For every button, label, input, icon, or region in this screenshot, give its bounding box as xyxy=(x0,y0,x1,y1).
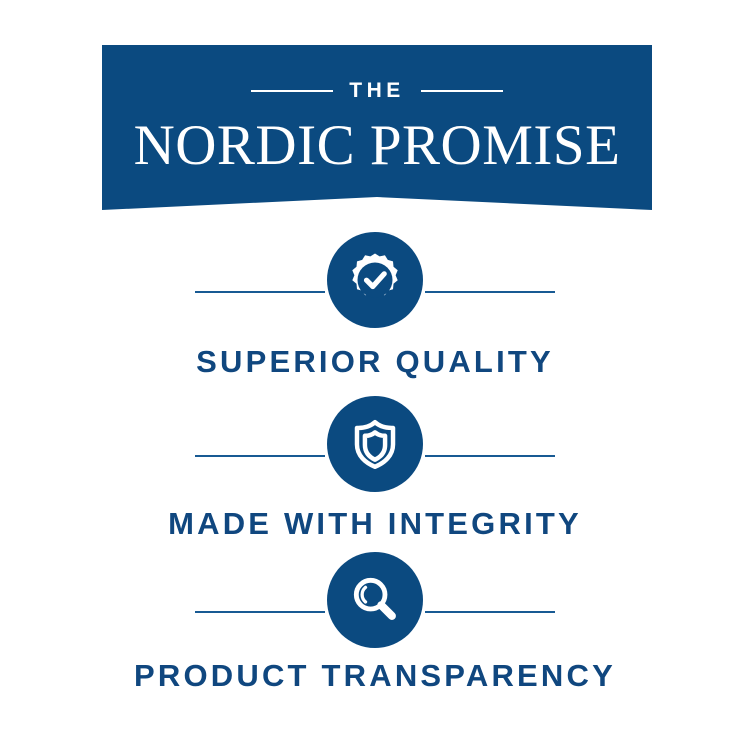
divider-left xyxy=(195,291,325,293)
badge-check-icon xyxy=(327,232,423,328)
promise-item-superior-quality: SUPERIOR QUALITY xyxy=(0,232,750,377)
promise-item-made-with-integrity: MADE WITH INTEGRITY xyxy=(0,396,750,539)
banner-eyebrow-row: THE xyxy=(99,80,655,101)
divider-left xyxy=(195,611,325,613)
banner-content: THE NORDIC PROMISE xyxy=(99,42,655,214)
divider-right xyxy=(425,611,555,613)
eyebrow-rule-right xyxy=(421,90,503,92)
promise-label: SUPERIOR QUALITY xyxy=(0,346,750,377)
banner: THE NORDIC PROMISE xyxy=(99,42,655,214)
promise-icon-row xyxy=(0,552,750,648)
shield-icon xyxy=(327,396,423,492)
divider-right xyxy=(425,291,555,293)
divider-right xyxy=(425,455,555,457)
magnifying-glass-icon xyxy=(327,552,423,648)
divider-left xyxy=(195,455,325,457)
promise-icon-row xyxy=(0,232,750,328)
nordic-promise-graphic: THE NORDIC PROMISE SUPERIOR QUALITY xyxy=(0,0,750,750)
promise-label: PRODUCT TRANSPARENCY xyxy=(0,660,750,691)
promise-item-product-transparency: PRODUCT TRANSPARENCY xyxy=(0,552,750,691)
banner-eyebrow-text: THE xyxy=(349,80,405,101)
promise-label: MADE WITH INTEGRITY xyxy=(0,508,750,539)
eyebrow-rule-left xyxy=(251,90,333,92)
promise-icon-row xyxy=(0,396,750,492)
banner-title: NORDIC PROMISE xyxy=(134,116,621,176)
